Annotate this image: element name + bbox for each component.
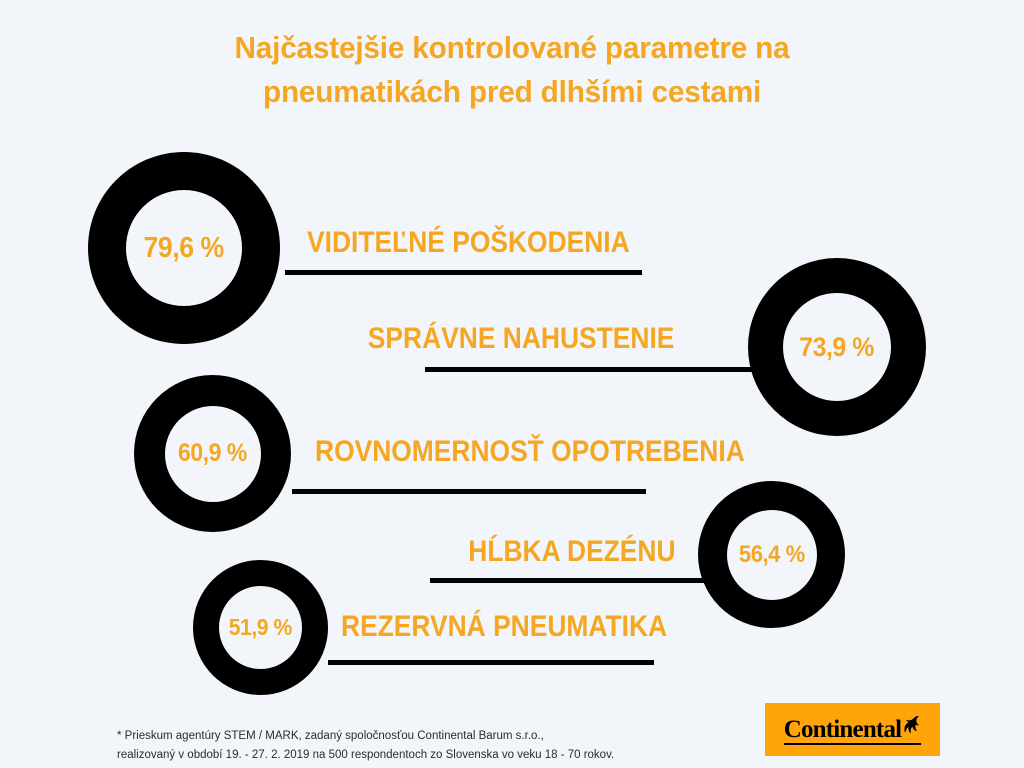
rearing-horse-icon	[902, 715, 921, 741]
donut-chart-3: 60,9 %	[134, 375, 291, 532]
footnote-line-2: realizovaný v období 19. - 27. 2. 2019 n…	[117, 746, 614, 765]
row-label-2: SPRÁVNE NAHUSTENIE	[367, 324, 674, 354]
page-title-line-1: Najčastejšie kontrolované parametre na	[20, 26, 1003, 70]
row-label-4: HĹBKA DEZÉNU	[469, 537, 676, 567]
connector-line-4	[430, 578, 715, 583]
donut-hole-5: 51,9 %	[219, 586, 302, 669]
connector-line-5	[328, 660, 654, 665]
donut-hole-2: 73,9 %	[783, 293, 891, 401]
connector-line-3	[292, 489, 646, 494]
donut-value-1: 79,6 %	[144, 232, 224, 265]
donut-value-2: 73,9 %	[800, 332, 875, 363]
footnote: * Prieskum agentúry STEM / MARK, zadaný …	[117, 727, 614, 764]
connector-line-1	[285, 270, 642, 275]
donut-hole-4: 56,4 %	[727, 510, 817, 600]
donut-hole-1: 79,6 %	[126, 190, 242, 306]
row-label-1: VIDITEĽNÉ POŠKODENIA	[307, 228, 630, 258]
row-label-3: ROVNOMERNOSŤ OPOTREBENIA	[315, 437, 745, 467]
row-label-5: REZERVNÁ PNEUMATIKA	[341, 612, 667, 642]
page-title-line-2: pneumatikách pred dlhšími cestami	[20, 70, 1003, 114]
connector-line-2	[425, 367, 765, 372]
footnote-line-1: * Prieskum agentúry STEM / MARK, zadaný …	[117, 727, 614, 746]
donut-chart-5: 51,9 %	[193, 560, 328, 695]
continental-logo-inner: Continental	[784, 715, 922, 745]
donut-value-5: 51,9 %	[229, 614, 292, 641]
page-title: Najčastejšie kontrolované parametre na p…	[20, 26, 1003, 114]
continental-logo: Continental	[765, 703, 940, 756]
donut-chart-1: 79,6 %	[88, 152, 280, 344]
donut-hole-3: 60,9 %	[165, 406, 261, 502]
continental-wordmark: Continental	[784, 717, 902, 742]
donut-chart-2: 73,9 %	[748, 258, 926, 436]
infographic-canvas: Najčastejšie kontrolované parametre na p…	[0, 0, 1024, 768]
donut-value-3: 60,9 %	[178, 439, 247, 468]
donut-chart-4: 56,4 %	[698, 481, 845, 628]
donut-value-4: 56,4 %	[739, 541, 805, 569]
